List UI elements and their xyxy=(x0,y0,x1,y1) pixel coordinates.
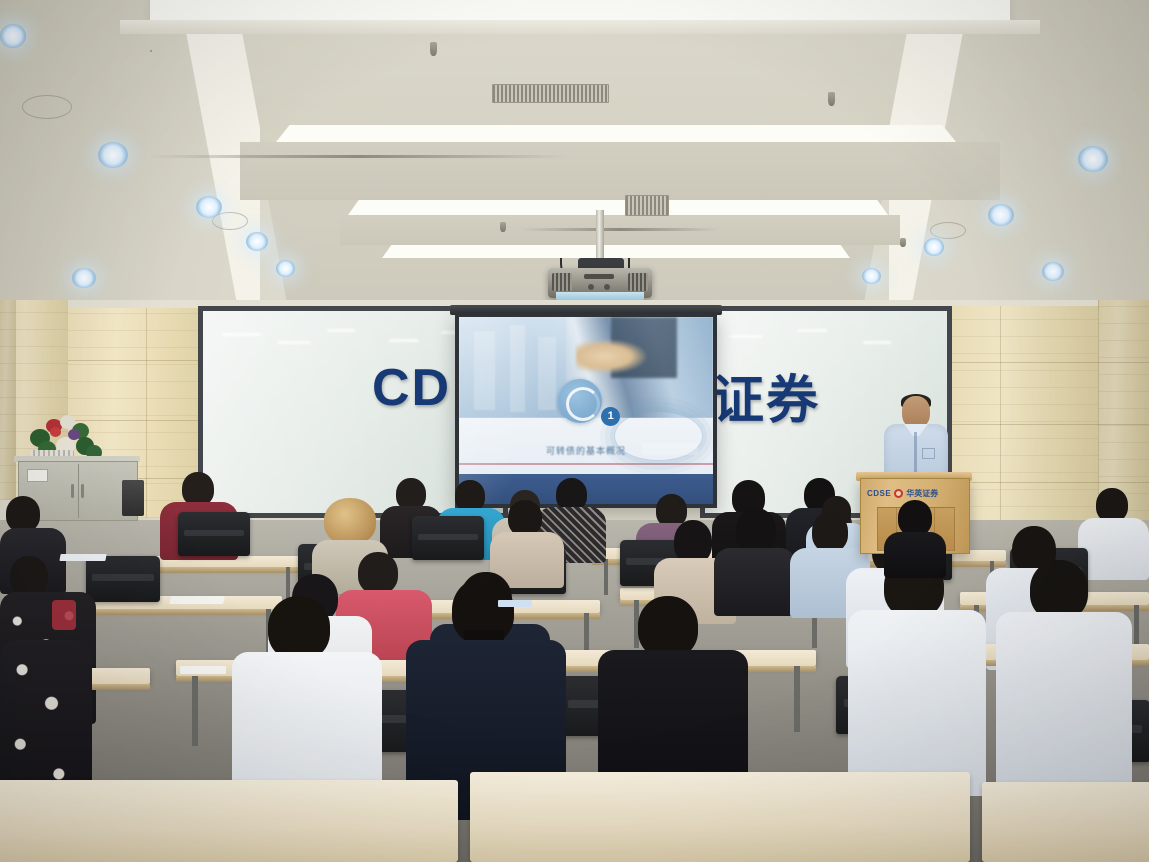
desk-foreground-center xyxy=(470,772,970,862)
marble-seam-l1 xyxy=(68,360,203,361)
paper-on-desk-4 xyxy=(180,666,226,674)
sprinkler-head-4 xyxy=(900,238,906,247)
downlight-6 xyxy=(72,268,96,288)
downlight-1 xyxy=(0,24,26,48)
desk-foreground-left xyxy=(0,780,458,862)
downlight-3 xyxy=(196,196,222,218)
cabinet-door-split xyxy=(78,464,79,518)
slide-photo-building-2 xyxy=(510,325,525,412)
slide-divider-rule xyxy=(459,463,713,465)
slide-photo-hands xyxy=(576,339,647,373)
downlight-11 xyxy=(1042,262,1064,281)
trash-bin xyxy=(122,480,144,516)
cabinet-label xyxy=(27,469,48,482)
slide-photo-building-1 xyxy=(474,331,494,410)
speaker-shirt-pocket xyxy=(922,448,935,459)
wall-brand-text-right: 证券 xyxy=(712,358,820,433)
slide-footer-chip xyxy=(642,443,698,455)
cabinet-handle-left[interactable] xyxy=(71,484,74,498)
downlight-5 xyxy=(276,260,295,277)
chair-mid-left-2[interactable] xyxy=(178,512,250,556)
ceiling-light-panel-1 xyxy=(276,125,956,142)
cabinet-handle-right[interactable] xyxy=(81,484,84,498)
podium-logo-chinese: 华英证券 xyxy=(906,488,938,499)
ceiling-speaker-3 xyxy=(930,222,966,239)
seminar-room-photo: CD 证券 1 可转债的基本概况 xyxy=(0,0,1149,862)
podium-logo-latin: CDSE xyxy=(867,489,891,498)
ceiling-rail-2 xyxy=(148,155,568,158)
marble-vseam-r1 xyxy=(1000,306,1001,524)
marble-seam-r2 xyxy=(948,424,1149,425)
slide-content: 1 可转债的基本概况 xyxy=(459,317,713,504)
ceiling-trough-shade xyxy=(120,20,1040,34)
downlight-2 xyxy=(98,142,128,168)
slide-circle-badge xyxy=(558,379,602,423)
downlight-4 xyxy=(246,232,268,251)
desk-foreground-right xyxy=(982,782,1149,862)
person-man-white-shirt-front-far-right xyxy=(996,560,1132,790)
ceiling-trough xyxy=(150,0,1010,22)
paper-on-desk-2 xyxy=(59,554,106,561)
ceiling xyxy=(0,0,1149,320)
ceiling-speaker-1 xyxy=(22,95,72,119)
marble-seam-r1 xyxy=(948,362,1149,363)
ceiling-light-panel-2 xyxy=(348,200,888,215)
ceiling-band-1 xyxy=(240,142,1000,200)
podium-logo: CDSE 华英证券 xyxy=(867,487,963,500)
slide-photo-building-3 xyxy=(538,337,556,410)
downlight-10 xyxy=(862,268,881,284)
downlight-7 xyxy=(1078,146,1108,172)
sprinkler-head-3 xyxy=(500,222,506,232)
ceiling-light-panel-3 xyxy=(382,245,850,258)
person-in-front-of-podium xyxy=(884,500,946,576)
marble-seam-r3 xyxy=(948,482,1149,483)
paper-on-desk-1 xyxy=(169,596,225,604)
ac-vent-1 xyxy=(492,84,609,103)
downlight-9 xyxy=(924,238,944,256)
marble-vseam-l1 xyxy=(146,308,147,518)
slide-badge-number: 1 xyxy=(601,407,620,426)
marble-return-left xyxy=(0,300,16,500)
marble-column-right xyxy=(948,306,1098,524)
paper-on-desk-3 xyxy=(498,600,532,607)
sprinkler-head-1 xyxy=(430,42,437,56)
ac-vent-4 xyxy=(150,50,152,52)
person-man-white-shirt-front-right xyxy=(848,556,986,794)
slide-badge-ring xyxy=(566,387,600,421)
chair-mid-left-1[interactable] xyxy=(86,556,160,602)
ceiling-rail-3 xyxy=(520,228,720,231)
wall-brand-text-left: CD xyxy=(372,358,451,418)
podium-logo-mark-icon xyxy=(894,489,903,498)
speaker-presenter xyxy=(884,396,948,484)
sprinkler-head-2 xyxy=(828,92,835,106)
ac-vent-2 xyxy=(625,195,669,216)
downlight-8 xyxy=(988,204,1014,226)
